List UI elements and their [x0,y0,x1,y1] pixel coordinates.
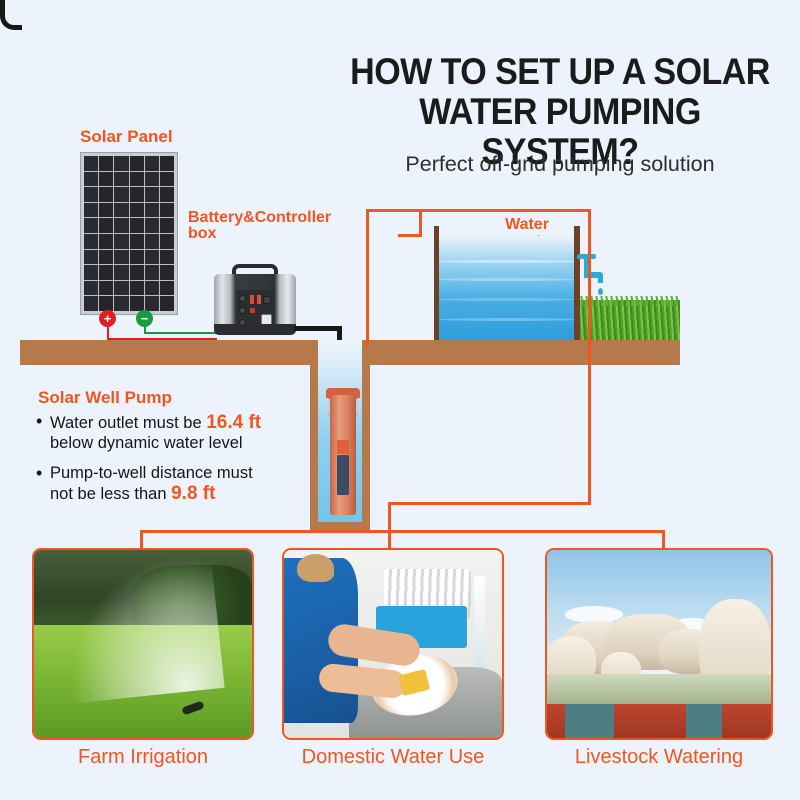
solar-cell [130,172,144,187]
caption-domestic-water-use: Domestic Water Use [282,746,504,769]
page-title-line-1: HOW TO SET UP A SOLAR [348,52,771,92]
solar-cell [160,296,174,311]
application-card-domestic-water-use[interactable] [282,548,504,740]
infographic-canvas: HOW TO SET UP A SOLAR WATER PUMPING SYST… [0,0,800,800]
status-led-icon [250,295,254,304]
solar-cell [99,234,113,249]
solar-cell [114,296,128,311]
solar-cell [99,218,113,233]
solar-cell [130,265,144,280]
ground-surface-right [370,340,680,365]
caption-farm-irrigation: Farm Irrigation [32,746,254,769]
solar-cell [84,156,98,171]
pump-power-cable-bend [0,0,22,30]
solar-cell [130,250,144,265]
battery-box-base [214,324,296,335]
solar-cell [160,265,174,280]
battery-controller-label-line-2: box [188,226,358,242]
solar-cell [160,250,174,265]
solar-cell [160,281,174,296]
livestock-watering-photo [547,550,771,738]
solar-cell [160,203,174,218]
pump-stripe [337,440,349,454]
bullet-2-text-before: Pump-to-well distance must [50,464,253,482]
connector-branch-livestock [662,530,665,550]
solar-cell [114,281,128,296]
solar-cell [145,296,159,311]
application-card-livestock-watering[interactable] [545,548,773,740]
solar-cell [130,296,144,311]
application-card-farm-irrigation[interactable] [32,548,254,740]
solar-cell [84,187,98,202]
pump-power-cable-horizontal [294,326,342,331]
solar-cell [84,172,98,187]
solar-cell [84,281,98,296]
bullet-1-highlight: 16.4 ft [206,412,261,433]
solar-cell [114,234,128,249]
display-panel [263,296,271,304]
bullet-dot-icon: • [36,412,50,453]
water-tank-label-line-1: Water [487,216,567,234]
grass-area [580,300,680,340]
solar-cell [145,156,159,171]
domestic-water-use-photo [284,550,502,738]
pipe-to-tank [366,209,591,212]
connector-tree-horizontal [140,530,665,533]
well-pump-requirements: • Water outlet must be 16.4 ft below dyn… [36,412,326,516]
solar-cell [160,172,174,187]
solar-cell [84,218,98,233]
solar-cell [114,172,128,187]
solar-cell [145,187,159,202]
grass-blades [580,296,680,306]
outlet-port-icon [239,295,246,302]
power-led-icon [250,308,255,313]
solar-well-pump-label: Solar Well Pump [38,388,172,408]
bullet-dot-icon: • [36,464,50,505]
solar-cell [130,234,144,249]
solar-cell [145,250,159,265]
faucet-nozzle [598,276,603,283]
solar-cell [99,281,113,296]
battery-controller-label-line-1: Battery&Controller [188,210,358,226]
solar-cell [130,281,144,296]
bullet-2-text-after: not be less than [50,485,171,503]
solar-cell [99,265,113,280]
water-tank-wall-left [434,226,439,340]
solar-cell [130,187,144,202]
bullet-2-highlight: 9.8 ft [171,483,215,504]
solar-panel-label: Solar Panel [80,127,173,147]
requirement-bullet-2: • Pump-to-well distance must not be less… [36,464,326,505]
requirement-bullet-1: • Water outlet must be 16.4 ft below dyn… [36,412,326,453]
water-tank-water [438,236,576,340]
pipe-right-downspout [588,209,591,505]
solar-panel-cell-grid [84,156,174,311]
pump-spec-label [337,455,349,495]
solar-cell [160,156,174,171]
solar-cell [160,234,174,249]
solar-cell [84,296,98,311]
solar-cell [84,250,98,265]
battery-controller-box [214,264,296,342]
solar-cell [145,218,159,233]
solar-cell [130,203,144,218]
water-drop-icon [598,288,603,295]
solar-cell [160,218,174,233]
status-led-icon [257,295,261,304]
solar-cell [84,203,98,218]
solar-cell [99,187,113,202]
solar-cell [114,203,128,218]
solar-cell [130,156,144,171]
solar-cell [99,172,113,187]
solar-panel [80,152,178,315]
bullet-1-text-after: below dynamic water level [50,434,243,452]
pipe-tank-left-bracket [398,234,422,237]
solar-cell [145,203,159,218]
battery-controller-label: Battery&Controller box [188,210,358,243]
positive-wire-horizontal [107,338,217,340]
connector-branch-farm [140,530,143,550]
solar-cell [99,250,113,265]
solar-cell [130,218,144,233]
solar-cell [114,187,128,202]
solar-cell [84,265,98,280]
page-subtitle: Perfect off-grid pumping solution [330,152,790,177]
pipe-bottom-run [388,502,591,505]
pipe-mid-drop [388,502,391,532]
solar-cell [145,281,159,296]
solar-cell [114,156,128,171]
solar-cell [145,265,159,280]
solar-cell [114,218,128,233]
solar-cell [99,156,113,171]
solar-cell [145,172,159,187]
negative-wire-horizontal [144,332,219,334]
pipe-riser-from-well [366,209,369,346]
caption-livestock-watering: Livestock Watering [545,746,773,769]
solar-cell [160,187,174,202]
connector-branch-domestic [388,530,391,550]
solar-cell [114,265,128,280]
bullet-1-text-before: Water outlet must be [50,414,206,432]
solar-cell [114,250,128,265]
outlet-port-icon [239,307,246,314]
ground-surface-left [20,340,310,365]
pipe-tank-left-drop [419,209,422,237]
solar-cell [99,203,113,218]
solar-cell [99,296,113,311]
solar-cell [84,234,98,249]
farm-irrigation-photo [34,550,252,738]
solar-cell [145,234,159,249]
